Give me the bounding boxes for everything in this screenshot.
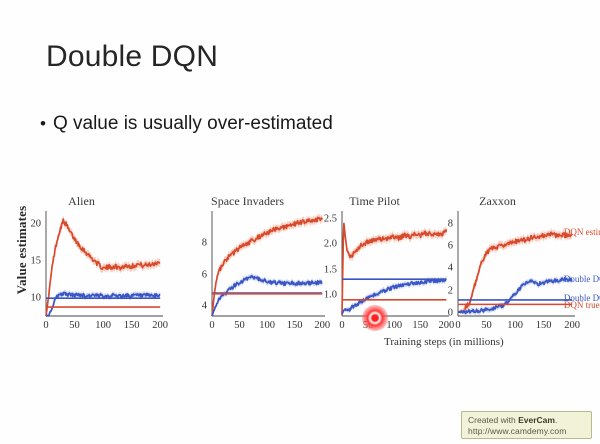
chart-panel-alien: Alien101520050100150200 [0,186,169,362]
page-title: Double DQN [46,40,218,74]
series-line [46,219,160,316]
figure-x-axis-label: Training steps (in millions) [384,336,504,348]
watermark-prefix: Created with [468,415,518,425]
watermark-suffix: . [555,415,557,425]
evercam-watermark: Created with EverCam. http://www.camdemy… [461,411,592,439]
legend-label: DQN true value [564,300,600,310]
value-estimates-figure: Value estimates Alien101520050100150200S… [0,186,600,362]
legend-label: DQN estimate [564,227,600,237]
watermark-created-line: Created with EverCam. [468,415,585,426]
legend-label: Double DQN estimate [564,274,600,284]
bullet-item: • Q value is usually over-estimated [40,113,333,135]
bullet-item-label: Q value is usually over-estimated [53,113,333,135]
slide-canvas: Double DQN • Q value is usually over-est… [0,0,600,444]
watermark-brand: EverCam [518,415,555,425]
watermark-url: http://www.camdemy.com [468,426,585,437]
chart-plot [0,186,169,362]
bullet-marker-icon: • [40,115,46,132]
